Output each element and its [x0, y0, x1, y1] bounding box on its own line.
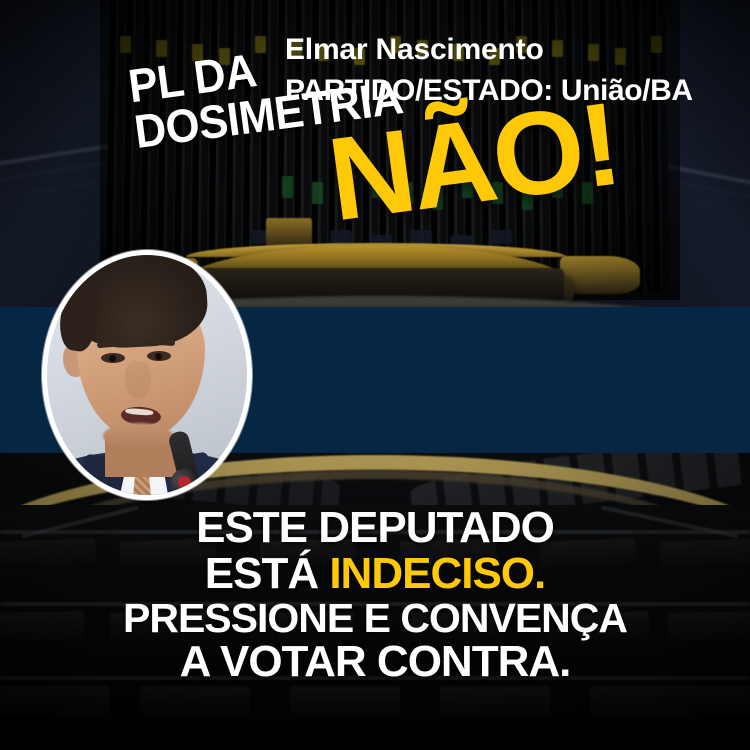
eye-left [101, 353, 125, 363]
avatar-photo [47, 255, 247, 495]
call-to-action-block: ESTE DEPUTADO ESTÁ INDECISO. PRESSIONE E… [0, 505, 750, 685]
cta-line-1: ESTE DEPUTADO [0, 505, 750, 551]
cta-line-2: ESTÁ INDECISO. [0, 551, 750, 597]
cta-status-indeciso: INDECISO. [329, 549, 545, 598]
cta-line-2-prefix: ESTÁ [205, 549, 330, 598]
headline-emphasis-nao: NÃO! [323, 91, 624, 234]
cta-line-3: PRESSIONE E CONVENÇA [0, 597, 750, 640]
avatar-white-ring [42, 250, 252, 500]
cta-line-4: A VOTAR CONTRA. [0, 639, 750, 685]
nose [125, 361, 151, 399]
chin [103, 423, 173, 449]
eye-right [147, 351, 171, 361]
campaign-poster: PL DA DOSIMETRIA NÃO! Elmar Nascimento P… [0, 0, 750, 750]
lapel-pin [205, 477, 217, 489]
deputy-party-state: PARTIDO/ESTADO: União/BA [285, 71, 693, 112]
deputy-name: Elmar Nascimento [285, 30, 693, 71]
deputy-info-block: Elmar Nascimento PARTIDO/ESTADO: União/B… [285, 30, 693, 111]
deputy-avatar [42, 250, 252, 500]
microphone-red-ring [178, 476, 191, 489]
